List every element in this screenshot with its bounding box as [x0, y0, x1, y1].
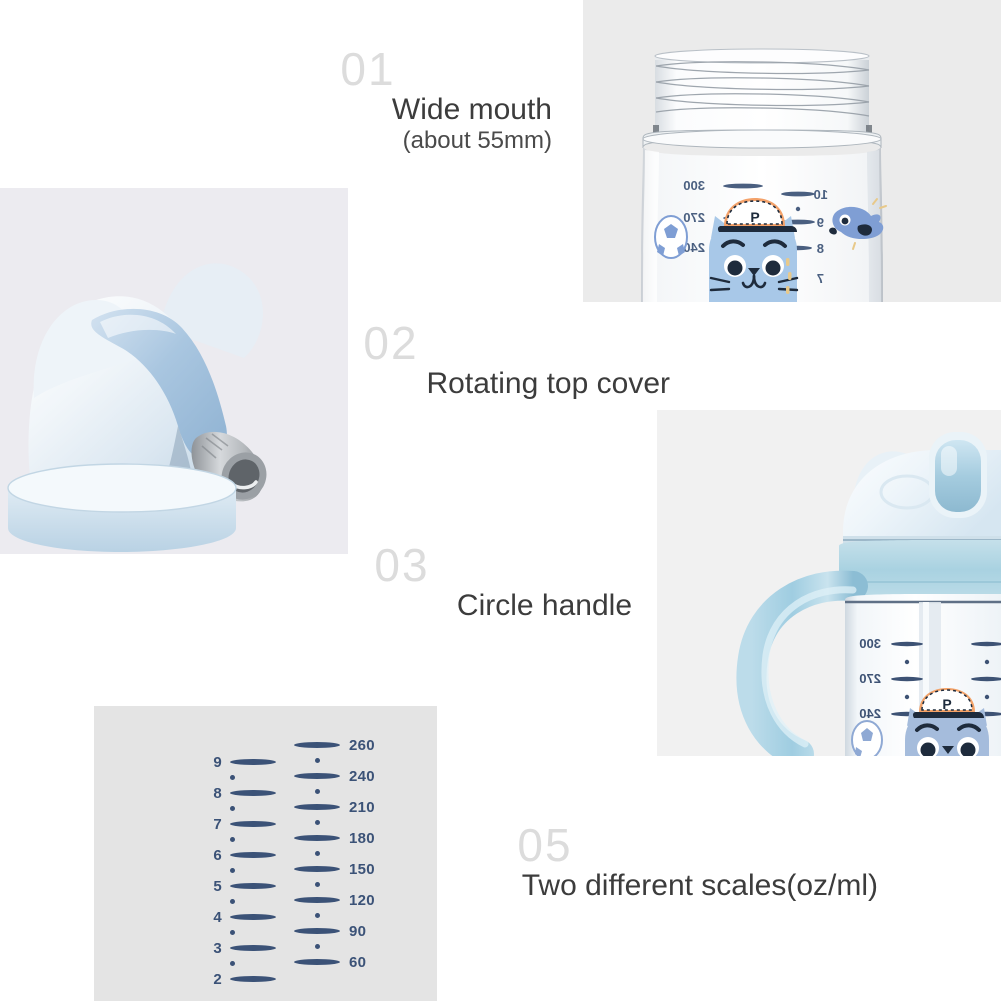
oz-tick-label: 6: [204, 848, 222, 863]
oz-minor-tick: [204, 865, 235, 877]
ml-tick-label: 150: [349, 862, 375, 877]
ml-tick-label: 260: [349, 738, 375, 753]
oz-minor-tick: [204, 834, 235, 846]
oz-tick-label: 8: [204, 786, 222, 801]
oz-tick-row: 9: [204, 756, 276, 768]
ml-tick-label: 240: [349, 769, 375, 784]
ml-tick-row: 120: [294, 894, 375, 906]
oz-major-tick: [230, 883, 276, 889]
svg-text:270: 270: [859, 671, 881, 686]
cup-soccer-ball: [852, 721, 882, 756]
oz-minor-dot: [230, 961, 235, 966]
ml-tick-row: 150: [294, 863, 375, 875]
ml-major-tick: [294, 959, 340, 965]
ml-major-tick: [294, 835, 340, 841]
oz-minor-dot: [230, 868, 235, 873]
soccer-ball-graphic: [655, 216, 687, 258]
ml-tick-row: 210: [294, 801, 375, 813]
feature-number-05: 05: [400, 822, 878, 868]
oz-minor-dot: [230, 806, 235, 811]
feature-title-01: Wide mouth: [252, 92, 552, 127]
oz-tick-row: 5: [204, 880, 276, 892]
feature-block-02: 02 Rotating top cover: [230, 320, 670, 401]
oz-tick-label: 3: [204, 941, 222, 956]
ml-minor-dot: [315, 758, 320, 763]
oz-tick-row: 2: [204, 973, 276, 985]
oz-tick-row: 7: [204, 818, 276, 830]
feature-title-05: Two different scales(oz/ml): [400, 868, 878, 903]
oz-tick-label: 7: [204, 817, 222, 832]
circle-handle-cup-photo: 300 270 240 10: [657, 410, 1001, 756]
oz-major-tick: [230, 945, 276, 951]
feature-block-01: 01 Wide mouth (about 55mm): [252, 46, 552, 156]
oz-major-tick: [230, 821, 276, 827]
ml-tick-row: 240: [294, 770, 375, 782]
ml-minor-tick: [294, 817, 320, 829]
oz-tick-row: 6: [204, 849, 276, 861]
bottle-rim: [643, 130, 881, 148]
oz-tick-row: 3: [204, 942, 276, 954]
svg-text:240: 240: [859, 706, 881, 721]
svg-text:P: P: [942, 696, 951, 712]
feature-block-03: 03 Circle handle: [260, 542, 632, 623]
ml-minor-tick: [294, 910, 320, 922]
feature-title-03: Circle handle: [260, 588, 632, 623]
feature-block-05: 05 Two different scales(oz/ml): [400, 822, 878, 903]
svg-text:8: 8: [817, 241, 824, 256]
ml-minor-dot: [315, 944, 320, 949]
ml-tick-row: 60: [294, 956, 366, 968]
feature-title-02: Rotating top cover: [230, 366, 670, 401]
ml-major-tick: [294, 742, 340, 748]
ml-tick-label: 210: [349, 800, 375, 815]
ml-tick-label: 120: [349, 893, 375, 908]
oz-minor-dot: [230, 899, 235, 904]
feature-subtitle-01: (about 55mm): [252, 127, 552, 156]
ml-tick-label: 90: [349, 924, 366, 939]
circle-handle-illustration: 300 270 240 10: [657, 410, 1001, 756]
ml-minor-dot: [315, 820, 320, 825]
ml-tick-row: 180: [294, 832, 375, 844]
wide-mouth-bottle-photo: 300 270 240 10 9 8 7: [583, 0, 1001, 302]
bottle-neck: [653, 49, 872, 133]
oz-major-tick: [230, 759, 276, 765]
oz-tick-label: 9: [204, 755, 222, 770]
ml-minor-tick: [294, 755, 320, 767]
svg-text:270: 270: [683, 210, 705, 225]
ml-minor-dot: [315, 913, 320, 918]
push-button[interactable]: [929, 432, 987, 518]
ml-major-tick: [294, 897, 340, 903]
circle-handle: [751, 586, 853, 754]
oz-minor-tick: [204, 896, 235, 908]
ml-major-tick: [294, 804, 340, 810]
oz-minor-tick: [204, 772, 235, 784]
ml-tick-row: 260: [294, 739, 375, 751]
feature-number-03: 03: [260, 542, 632, 588]
feature-number-01: 01: [252, 46, 552, 92]
svg-text:300: 300: [859, 636, 881, 651]
oz-minor-tick: [204, 958, 235, 970]
ml-minor-dot: [315, 882, 320, 887]
ml-minor-dot: [315, 851, 320, 856]
svg-text:10: 10: [814, 187, 828, 202]
oz-major-tick: [230, 852, 276, 858]
oz-minor-tick: [204, 927, 235, 939]
svg-text:9: 9: [817, 215, 824, 230]
ml-major-tick: [294, 928, 340, 934]
oz-tick-label: 4: [204, 910, 222, 925]
oz-major-tick: [230, 914, 276, 920]
dual-scale-diagram: 98765432 2602402101801501209060: [94, 706, 437, 1001]
wide-mouth-illustration: 300 270 240 10 9 8 7: [583, 0, 1001, 302]
svg-text:7: 7: [817, 271, 824, 286]
oz-tick-label: 5: [204, 879, 222, 894]
ml-tick-label: 60: [349, 955, 366, 970]
svg-text:300: 300: [683, 178, 705, 193]
feature-number-02: 02: [230, 320, 670, 366]
oz-tick-row: 4: [204, 911, 276, 923]
ml-major-tick: [294, 773, 340, 779]
ml-minor-tick: [294, 941, 320, 953]
svg-text:P: P: [750, 209, 759, 225]
ml-tick-label: 180: [349, 831, 375, 846]
oz-minor-dot: [230, 837, 235, 842]
oz-tick-row: 8: [204, 787, 276, 799]
oz-minor-dot: [230, 930, 235, 935]
ml-tick-row: 90: [294, 925, 366, 937]
ml-minor-tick: [294, 848, 320, 860]
oz-tick-label: 2: [204, 972, 222, 987]
ml-minor-dot: [315, 789, 320, 794]
oz-major-tick: [230, 790, 276, 796]
oz-major-tick: [230, 976, 276, 982]
oz-minor-dot: [230, 775, 235, 780]
ml-minor-tick: [294, 879, 320, 891]
ml-minor-tick: [294, 786, 320, 798]
oz-minor-tick: [204, 803, 235, 815]
ml-major-tick: [294, 866, 340, 872]
